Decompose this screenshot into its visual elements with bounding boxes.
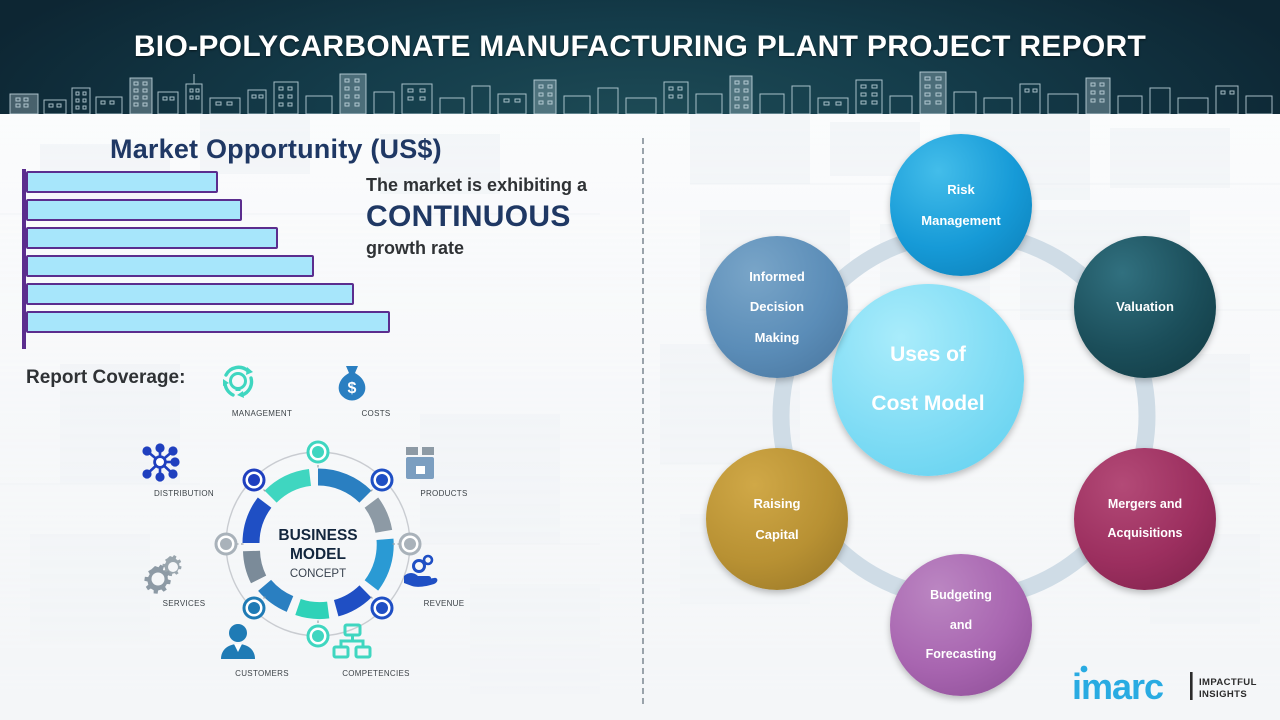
package-box-icon: [398, 442, 490, 486]
person-icon: [216, 622, 308, 666]
money-bag-icon: $: [330, 362, 422, 406]
coverage-label-products: PRODUCTS: [398, 489, 490, 498]
node-line1: Risk: [896, 182, 1026, 197]
slide-body: Market Opportunity (US$) The market is e…: [0, 114, 1280, 720]
growth-text-line1: The market is exhibiting a: [366, 174, 636, 197]
org-network-icon: [330, 622, 422, 666]
svg-text:$: $: [348, 380, 357, 397]
coverage-item-management: MANAGEMENT: [216, 362, 308, 418]
node-informed-decision-making[interactable]: Informed Decision Making: [706, 236, 848, 378]
business-model-diagram: BUSINESS MODEL CONCEPT: [140, 364, 520, 709]
node-budgeting-and-forecasting[interactable]: Budgeting and Forecasting: [890, 554, 1032, 696]
node-line1: Informed: [712, 269, 842, 284]
coverage-item-services: SERVICES: [138, 552, 230, 608]
market-opportunity-bar-chart: [22, 169, 422, 349]
bar-row: [26, 255, 314, 277]
coverage-label-revenue: REVENUE: [398, 599, 490, 608]
coverage-label-customers: CUSTOMERS: [216, 669, 308, 678]
center-line2: Cost Model: [838, 392, 1018, 417]
right-panel: Uses of Cost Model Risk Management Valua…: [642, 114, 1280, 720]
node-line3: Forecasting: [896, 647, 1026, 662]
node-raising-capital[interactable]: Raising Capital: [706, 448, 848, 590]
coverage-label-services: SERVICES: [138, 599, 230, 608]
gears-icon: [138, 552, 230, 596]
coverage-label-distribution: DISTRIBUTION: [138, 489, 230, 498]
growth-text-line3: growth rate: [366, 237, 636, 260]
city-skyline-icon: [0, 64, 1280, 114]
recycle-bulb-icon: [216, 362, 308, 406]
node-line2: Capital: [712, 527, 842, 542]
bm-center-line3: CONCEPT: [290, 568, 346, 580]
node-line2: and: [896, 618, 1026, 633]
coverage-item-customers: CUSTOMERS: [216, 622, 308, 678]
coverage-label-costs: COSTS: [330, 409, 422, 418]
bm-center-line1: BUSINESS: [278, 527, 357, 544]
node-line2: Decision: [712, 299, 842, 314]
node-line1: Valuation: [1080, 299, 1210, 314]
coverage-item-competencies: COMPETENCIES: [330, 622, 422, 678]
node-line2: Management: [896, 213, 1026, 228]
node-line1: Mergers and: [1080, 497, 1210, 512]
nodes-network-icon: [138, 442, 230, 486]
coverage-item-distribution: DISTRIBUTION: [138, 442, 230, 498]
node-risk-management[interactable]: Risk Management: [890, 134, 1032, 276]
left-panel: Market Opportunity (US$) The market is e…: [0, 114, 642, 720]
node-valuation[interactable]: Valuation: [1074, 236, 1216, 378]
node-line3: Making: [712, 330, 842, 345]
node-line2: Acquisitions: [1080, 526, 1210, 541]
page-title: BIO-POLYCARBONATE MANUFACTURING PLANT PR…: [0, 30, 1280, 64]
bar-row: [26, 311, 390, 333]
page-header: BIO-POLYCARBONATE MANUFACTURING PLANT PR…: [0, 0, 1280, 114]
node-line1: Budgeting: [896, 588, 1026, 603]
svg-text:INSIGHTS: INSIGHTS: [1199, 689, 1247, 700]
growth-text-line2: CONTINUOUS: [366, 197, 636, 238]
market-opportunity-title: Market Opportunity (US$): [110, 134, 442, 165]
bm-center-line2: MODEL: [290, 546, 346, 563]
node-mergers-and-acquisitions[interactable]: Mergers and Acquisitions: [1074, 448, 1216, 590]
imarc-logo[interactable]: imarc IMPACTFUL INSIGHTS: [1072, 663, 1262, 707]
bar-row: [26, 283, 354, 305]
coverage-label-competencies: COMPETENCIES: [330, 669, 422, 678]
bar-row: [26, 227, 278, 249]
growth-text-block: The market is exhibiting a CONTINUOUS gr…: [366, 174, 636, 260]
center-line1: Uses of: [838, 343, 1018, 368]
hand-coins-icon: [398, 552, 490, 596]
coverage-item-revenue: REVENUE: [398, 552, 490, 608]
uses-of-cost-model-center: Uses of Cost Model: [832, 284, 1024, 476]
bar-row: [26, 199, 242, 221]
svg-text:imarc: imarc: [1072, 666, 1163, 707]
svg-text:IMPACTFUL: IMPACTFUL: [1199, 677, 1257, 688]
node-line1: Raising: [712, 496, 842, 511]
bar-row: [26, 171, 218, 193]
coverage-item-costs: $ COSTS: [330, 362, 422, 418]
coverage-label-management: MANAGEMENT: [216, 409, 308, 418]
coverage-item-products: PRODUCTS: [398, 442, 490, 498]
